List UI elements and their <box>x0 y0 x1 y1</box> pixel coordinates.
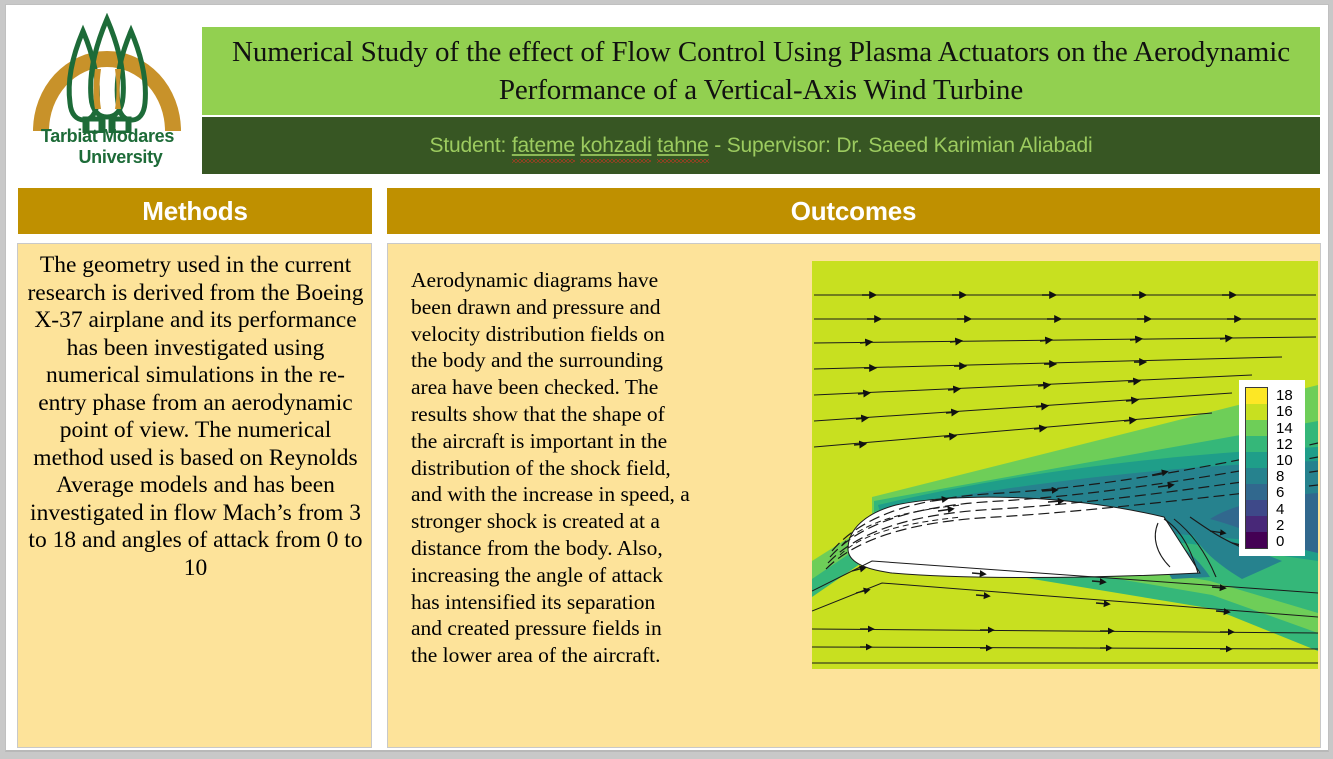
university-logo-icon <box>15 13 200 133</box>
colorbar-tick-18: 18 <box>1276 388 1293 403</box>
colorbar-tick-10: 10 <box>1276 453 1293 468</box>
university-logo: Tarbiat Modares University <box>15 13 200 173</box>
colorbar-swatch-7 <box>1246 500 1267 516</box>
methods-heading: Methods <box>18 196 372 227</box>
colorbar-tick-6: 6 <box>1276 485 1284 500</box>
outcomes-body-text: Aerodynamic diagrams have been drawn and… <box>411 267 691 669</box>
student-name-token-2: kohzadi <box>580 134 651 158</box>
colorbar-swatch-6 <box>1246 484 1267 500</box>
colorbar-swatch-8 <box>1246 516 1267 532</box>
colorbar-swatch-3 <box>1246 436 1267 452</box>
poster-header: Tarbiat Modares University Numerical Stu… <box>6 5 1328 173</box>
colorbar-swatches <box>1245 387 1268 549</box>
logo-name-line1: Tarbiat Modares <box>41 126 174 146</box>
colorbar-swatch-0 <box>1246 388 1267 404</box>
outcomes-panel: Aerodynamic diagrams have been drawn and… <box>387 243 1321 748</box>
colorbar-tick-2: 2 <box>1276 518 1284 533</box>
poster-title: Numerical Study of the effect of Flow Co… <box>202 33 1320 109</box>
poster-page: Tarbiat Modares University Numerical Stu… <box>5 4 1329 752</box>
logo-name-line2: University <box>15 147 200 168</box>
colorbar-tick-14: 14 <box>1276 421 1293 436</box>
author-separator: - Supervisor: <box>709 134 837 157</box>
methods-section-header: Methods <box>18 188 372 234</box>
colorbar-tick-4: 4 <box>1276 502 1284 517</box>
colorbar-swatch-1 <box>1246 404 1267 420</box>
methods-body-text: The geometry used in the current researc… <box>25 252 366 582</box>
author-prefix: Student: <box>430 134 512 157</box>
colorbar-swatch-4 <box>1246 452 1267 468</box>
colorbar-tick-12: 12 <box>1276 437 1293 452</box>
colorbar-tick-labels: 181614121086420 <box>1276 387 1301 549</box>
colorbar-tick-0: 0 <box>1276 534 1284 549</box>
cfd-contour-figure: 181614121086420 <box>812 261 1318 669</box>
poster-authors: Student: fateme kohzadi tahne - Supervis… <box>430 134 1093 158</box>
student-name-token-1: fateme <box>512 134 575 158</box>
outcomes-section-header: Outcomes <box>387 188 1320 234</box>
student-name-token-3: tahne <box>657 134 709 158</box>
colorbar-swatch-2 <box>1246 420 1267 436</box>
outcomes-heading: Outcomes <box>387 196 1320 227</box>
colorbar-swatch-9 <box>1246 532 1267 548</box>
university-logo-name: Tarbiat Modares University <box>15 126 200 168</box>
colorbar-tick-8: 8 <box>1276 469 1284 484</box>
supervisor-name: Dr. Saeed Karimian Aliabadi <box>836 134 1092 157</box>
colorbar-legend: 181614121086420 <box>1239 380 1305 556</box>
methods-panel: The geometry used in the current researc… <box>17 243 372 748</box>
poster-title-bar: Numerical Study of the effect of Flow Co… <box>202 27 1320 115</box>
colorbar-tick-16: 16 <box>1276 404 1293 419</box>
colorbar-swatch-5 <box>1246 468 1267 484</box>
poster-author-bar: Student: fateme kohzadi tahne - Supervis… <box>202 117 1320 174</box>
